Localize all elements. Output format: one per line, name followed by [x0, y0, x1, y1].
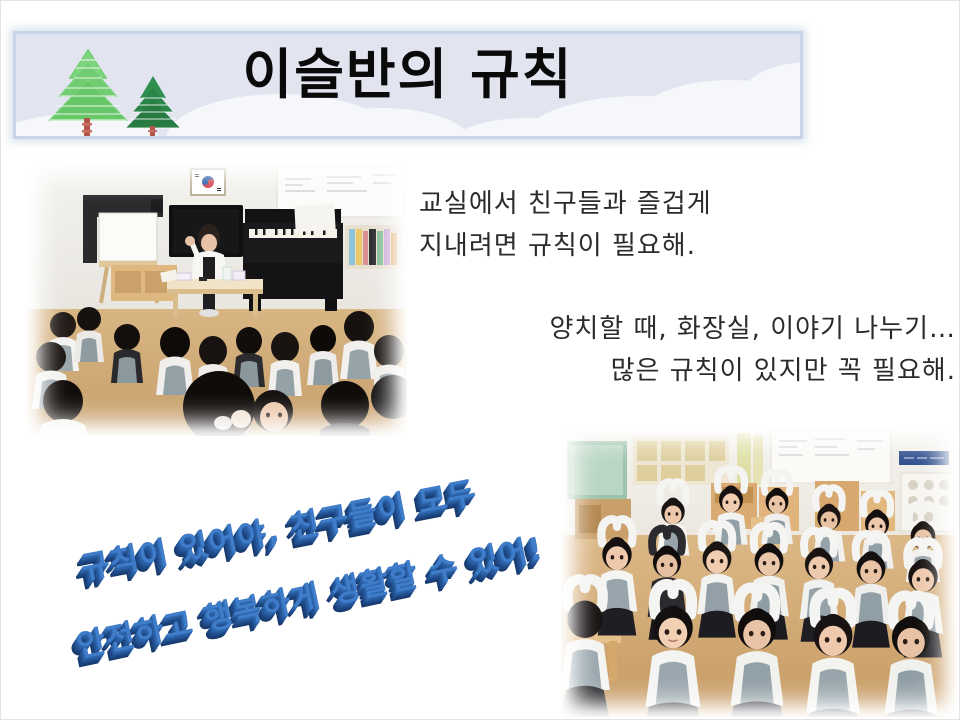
- description-line: 많은 규칙이 있지만 꼭 필요해.: [456, 350, 956, 392]
- photo-classroom-circle-time: [27, 161, 407, 436]
- photo-content: [27, 161, 407, 436]
- description-line: 지내려면 규칙이 필요해.: [419, 225, 712, 267]
- title-banner: 이슬반의 규칙: [13, 31, 803, 139]
- wordart-block: 규칙이 있어야, 친구들이 모두 안전하고 행복하게 생활할 수 있어!: [45, 471, 565, 681]
- cloud-shape: [291, 108, 471, 139]
- photo-content: [561, 425, 957, 717]
- cloud-shape: [446, 118, 606, 139]
- slide-canvas: 이슬반의 규칙: [0, 0, 960, 720]
- photo-children-heart-hands: [561, 425, 957, 717]
- description-line: 양치할 때, 화장실, 이야기 나누기…: [456, 308, 956, 350]
- description-paragraph-1: 교실에서 친구들과 즐겁게 지내려면 규칙이 필요해.: [419, 183, 712, 267]
- description-paragraph-2: 양치할 때, 화장실, 이야기 나누기… 많은 규칙이 있지만 꼭 필요해.: [456, 308, 956, 392]
- classroom-scene-illustration: [27, 161, 407, 436]
- description-line: 교실에서 친구들과 즐겁게: [419, 183, 712, 225]
- page-title: 이슬반의 규칙: [16, 48, 800, 102]
- children-heart-hands-illustration: [561, 425, 957, 717]
